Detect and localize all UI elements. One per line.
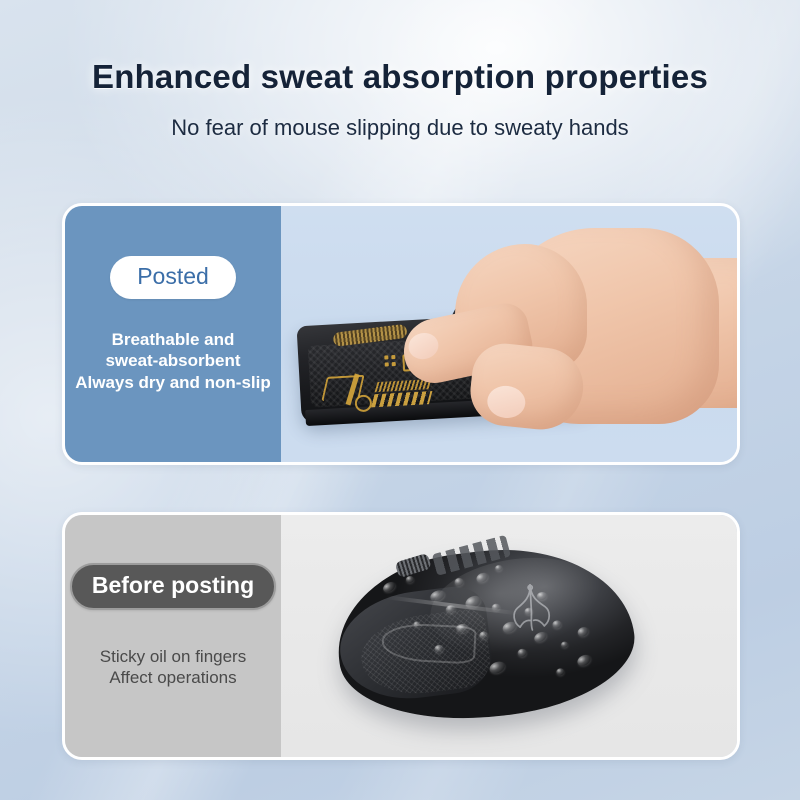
- panel-posted-photo: [281, 206, 737, 462]
- comparison-panel-before: Before posting Sticky oil on fingers Aff…: [62, 512, 740, 760]
- panel-before-caption: Sticky oil on fingers Affect operations: [100, 646, 246, 689]
- caption-line: Breathable and: [75, 329, 271, 350]
- status-badge-before-posting: Before posting: [70, 563, 276, 610]
- status-badge-posted: Posted: [110, 256, 236, 299]
- caption-line: Always dry and non-slip: [75, 372, 271, 393]
- panel-posted-caption: Breathable and sweat-absorbent Always dr…: [75, 329, 271, 393]
- comparison-panel-posted: Posted Breathable and sweat-absorbent Al…: [62, 203, 740, 465]
- hand-graphic: [399, 224, 729, 454]
- product-feature-graphic: Enhanced sweat absorption properties No …: [0, 0, 800, 800]
- gold-dot-mark: [392, 362, 396, 366]
- panel-before-photo: [281, 515, 737, 757]
- gold-dot-mark: [391, 355, 395, 359]
- caption-line: sweat-absorbent: [75, 350, 271, 371]
- caption-line: Affect operations: [100, 667, 246, 688]
- caption-line: Sticky oil on fingers: [100, 646, 246, 667]
- panel-before-text-column: Before posting Sticky oil on fingers Aff…: [65, 515, 281, 757]
- fingernail: [406, 330, 441, 362]
- page-subtitle: No fear of mouse slipping due to sweaty …: [0, 115, 800, 141]
- fingernail: [486, 384, 527, 420]
- gaming-mouse-icon: [327, 525, 647, 740]
- page-title: Enhanced sweat absorption properties: [0, 58, 800, 96]
- gold-dot-mark: [385, 362, 389, 366]
- photo-mouse-with-droplets: [281, 515, 737, 757]
- panel-posted-text-column: Posted Breathable and sweat-absorbent Al…: [65, 206, 281, 462]
- gold-dot-mark: [384, 355, 388, 359]
- photo-hand-on-mouse: [281, 206, 737, 462]
